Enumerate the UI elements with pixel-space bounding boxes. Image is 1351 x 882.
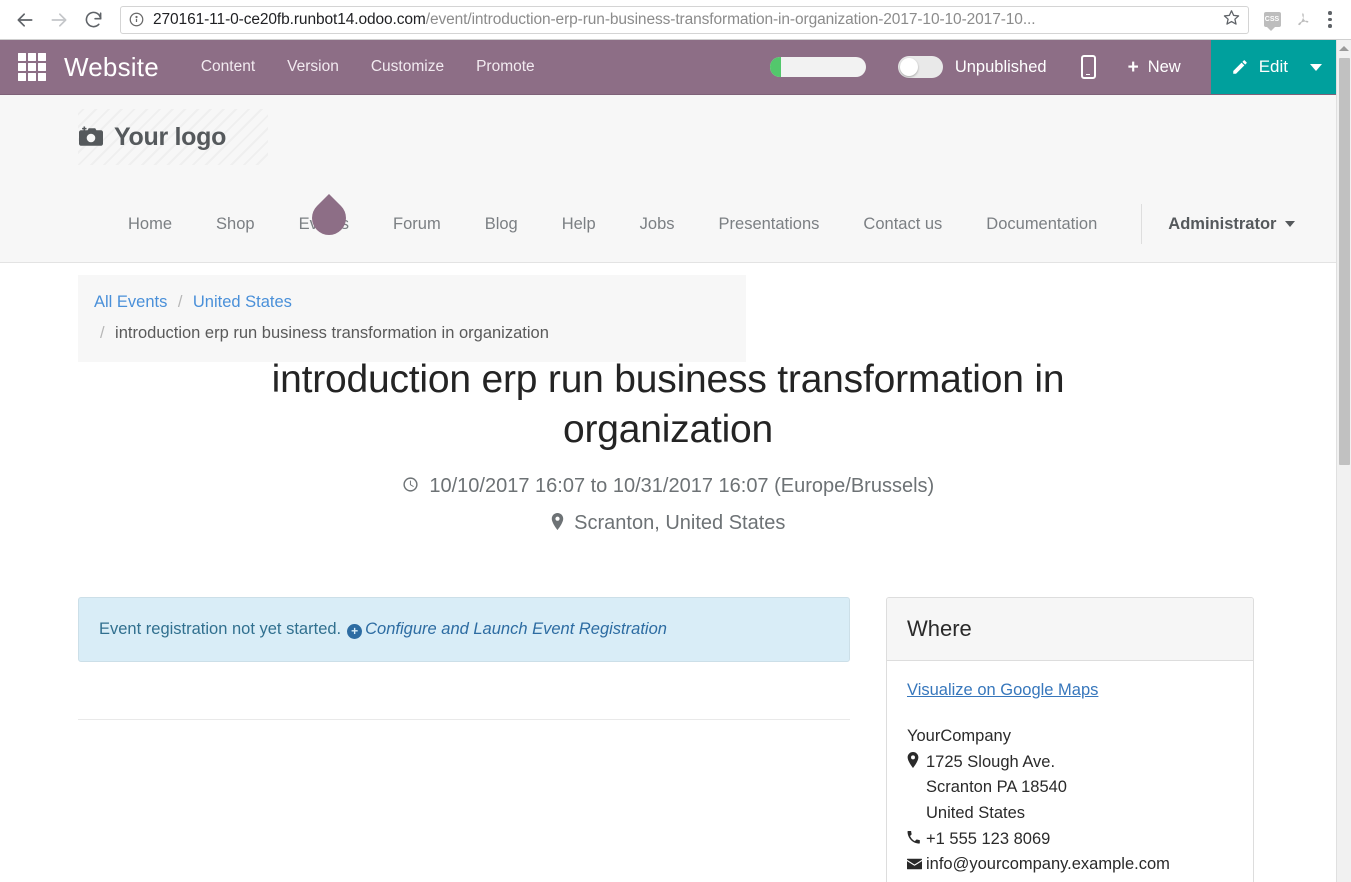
address-bar[interactable]: 270161-11-0-ce20fb.runbot14.odoo.com/eve… xyxy=(120,6,1249,34)
breadcrumb-country[interactable]: United States xyxy=(193,293,292,311)
logo-text: Your logo xyxy=(114,123,226,152)
left-column: Event registration not yet started.+Conf… xyxy=(78,597,850,720)
nav-divider xyxy=(1141,204,1142,244)
user-menu[interactable]: Administrator xyxy=(1168,215,1295,234)
odoo-menu-promote[interactable]: Promote xyxy=(476,58,535,76)
nav-item-forum[interactable]: Forum xyxy=(393,215,441,234)
seo-progress-bar xyxy=(770,57,866,77)
site-nav: Home Shop Events Forum Blog Help Jobs Pr… xyxy=(0,189,1336,259)
email-row: info@yourcompany.example.com xyxy=(907,852,1233,878)
clock-icon xyxy=(402,476,425,498)
logo-placeholder[interactable]: Your logo xyxy=(78,109,268,165)
main-columns: Event registration not yet started.+Conf… xyxy=(0,597,1336,882)
map-pin-icon xyxy=(551,513,570,535)
kebab-dot xyxy=(1328,11,1332,15)
company-name: YourCompany xyxy=(907,724,1233,750)
breadcrumb-separator: / xyxy=(100,324,105,342)
odoo-menu-content[interactable]: Content xyxy=(201,58,255,76)
browser-chrome: 270161-11-0-ce20fb.runbot14.odoo.com/eve… xyxy=(0,0,1351,40)
company-name-text: YourCompany xyxy=(907,724,1011,750)
odoo-bar-right: Unpublished + New Edit xyxy=(770,40,1336,94)
chevron-down-icon xyxy=(1285,221,1295,227)
scroll-up-arrow-icon[interactable] xyxy=(1337,40,1351,57)
configure-registration-link[interactable]: Configure and Launch Event Registration xyxy=(365,620,667,638)
publish-toggle[interactable] xyxy=(898,56,943,78)
content-divider xyxy=(78,719,850,720)
nav-item-blog[interactable]: Blog xyxy=(485,215,518,234)
nav-item-help[interactable]: Help xyxy=(562,215,596,234)
reload-icon[interactable] xyxy=(76,3,110,37)
edit-button[interactable]: Edit xyxy=(1211,40,1336,94)
scrollbar-thumb[interactable] xyxy=(1339,58,1350,465)
where-panel-title: Where xyxy=(907,616,1233,642)
address-street: 1725 Slough Ave. xyxy=(907,750,1233,776)
nav-item-presentations[interactable]: Presentations xyxy=(719,215,820,234)
extension-css-icon[interactable]: CSS xyxy=(1257,3,1287,37)
breadcrumb: All Events / United States / introductio… xyxy=(78,275,746,362)
nav-item-documentation[interactable]: Documentation xyxy=(986,215,1097,234)
envelope-icon xyxy=(907,853,926,879)
extension-css-label: CSS xyxy=(1264,12,1281,27)
publish-status-label: Unpublished xyxy=(955,58,1047,77)
mobile-phone-icon[interactable] xyxy=(1081,55,1096,79)
event-meta: 10/10/2017 16:07 to 10/31/2017 16:07 (Eu… xyxy=(0,471,1336,539)
odoo-menu-customize[interactable]: Customize xyxy=(371,58,444,76)
logo-row: Your logo xyxy=(0,95,1336,189)
kebab-menu-icon[interactable] xyxy=(1317,3,1343,37)
nav-item-shop[interactable]: Shop xyxy=(216,215,255,234)
breadcrumb-all-events[interactable]: All Events xyxy=(94,293,167,311)
page-body: All Events / United States / introductio… xyxy=(0,263,1336,882)
star-icon[interactable] xyxy=(1223,9,1240,31)
map-pin-icon xyxy=(907,751,926,777)
address-country: United States xyxy=(907,801,1233,827)
where-panel-body: Visualize on Google Maps YourCompany 172… xyxy=(887,661,1253,882)
kebab-dot xyxy=(1328,24,1332,28)
publish-toggle-group[interactable]: Unpublished xyxy=(898,56,1047,78)
registration-alert: Event registration not yet started.+Conf… xyxy=(78,597,850,662)
address-street-text: 1725 Slough Ave. xyxy=(926,750,1055,776)
url-text: 270161-11-0-ce20fb.runbot14.odoo.com/eve… xyxy=(153,11,1217,29)
event-date-range: 10/10/2017 16:07 to 10/31/2017 16:07 (Eu… xyxy=(429,475,934,497)
camera-icon xyxy=(78,126,104,149)
event-location: Scranton, United States xyxy=(574,512,785,534)
nav-item-home[interactable]: Home xyxy=(128,215,172,234)
event-date-row: 10/10/2017 16:07 to 10/31/2017 16:07 (Eu… xyxy=(402,475,934,497)
forward-arrow-icon[interactable] xyxy=(42,3,76,37)
pencil-icon xyxy=(1231,58,1249,76)
site-info-icon[interactable] xyxy=(129,12,144,27)
breadcrumb-current: introduction erp run business transforma… xyxy=(115,324,549,342)
vertical-scrollbar[interactable] xyxy=(1336,40,1351,882)
phone-icon xyxy=(907,828,926,854)
plus-circle-icon[interactable]: + xyxy=(347,624,362,639)
address-city: Scranton PA 18540 xyxy=(907,775,1233,801)
address-country-text: United States xyxy=(926,801,1025,827)
phone-text: +1 555 123 8069 xyxy=(926,827,1050,853)
where-panel: Where Visualize on Google Maps YourCompa… xyxy=(886,597,1254,882)
phone-row: +1 555 123 8069 xyxy=(907,827,1233,853)
url-path: /event/introduction-erp-run-business-tra… xyxy=(426,11,1036,28)
edit-button-label: Edit xyxy=(1259,57,1288,77)
breadcrumb-line-2: / introduction erp run business transfor… xyxy=(94,318,730,349)
google-maps-link[interactable]: Visualize on Google Maps xyxy=(907,681,1233,700)
odoo-menu-version[interactable]: Version xyxy=(287,58,339,76)
event-location-row: Scranton, United States xyxy=(0,508,1336,539)
seo-progress-fill xyxy=(770,57,781,77)
odoo-brand-label[interactable]: Website xyxy=(64,52,159,83)
back-arrow-icon[interactable] xyxy=(8,3,42,37)
nav-item-contact-us[interactable]: Contact us xyxy=(863,215,942,234)
odoo-menu: Content Version Customize Promote xyxy=(201,58,535,76)
odoo-editor-bar: Website Content Version Customize Promot… xyxy=(0,40,1336,95)
breadcrumb-separator: / xyxy=(178,293,183,311)
apps-grid-icon[interactable] xyxy=(18,53,46,81)
browser-viewport: Website Content Version Customize Promot… xyxy=(0,40,1351,882)
url-host: 270161-11-0-ce20fb.runbot14.odoo.com xyxy=(153,11,426,28)
user-menu-label: Administrator xyxy=(1168,215,1276,234)
nav-item-jobs[interactable]: Jobs xyxy=(640,215,675,234)
registration-alert-message: Event registration not yet started. xyxy=(99,620,341,638)
new-button-label: New xyxy=(1148,58,1181,77)
email-text: info@yourcompany.example.com xyxy=(926,852,1170,878)
page-content: Website Content Version Customize Promot… xyxy=(0,40,1336,882)
toggle-knob xyxy=(900,58,918,76)
address-city-text: Scranton PA 18540 xyxy=(926,775,1067,801)
plus-icon: + xyxy=(1128,58,1139,77)
where-panel-header: Where xyxy=(887,598,1253,661)
extension-pdf-icon[interactable] xyxy=(1287,3,1317,37)
kebab-dot xyxy=(1328,18,1332,22)
chevron-down-icon[interactable] xyxy=(1310,64,1322,71)
right-column: Where Visualize on Google Maps YourCompa… xyxy=(886,597,1254,882)
new-button[interactable]: + New xyxy=(1128,58,1181,77)
website-header: Your logo Home Shop Events Forum Blog He… xyxy=(0,95,1336,263)
